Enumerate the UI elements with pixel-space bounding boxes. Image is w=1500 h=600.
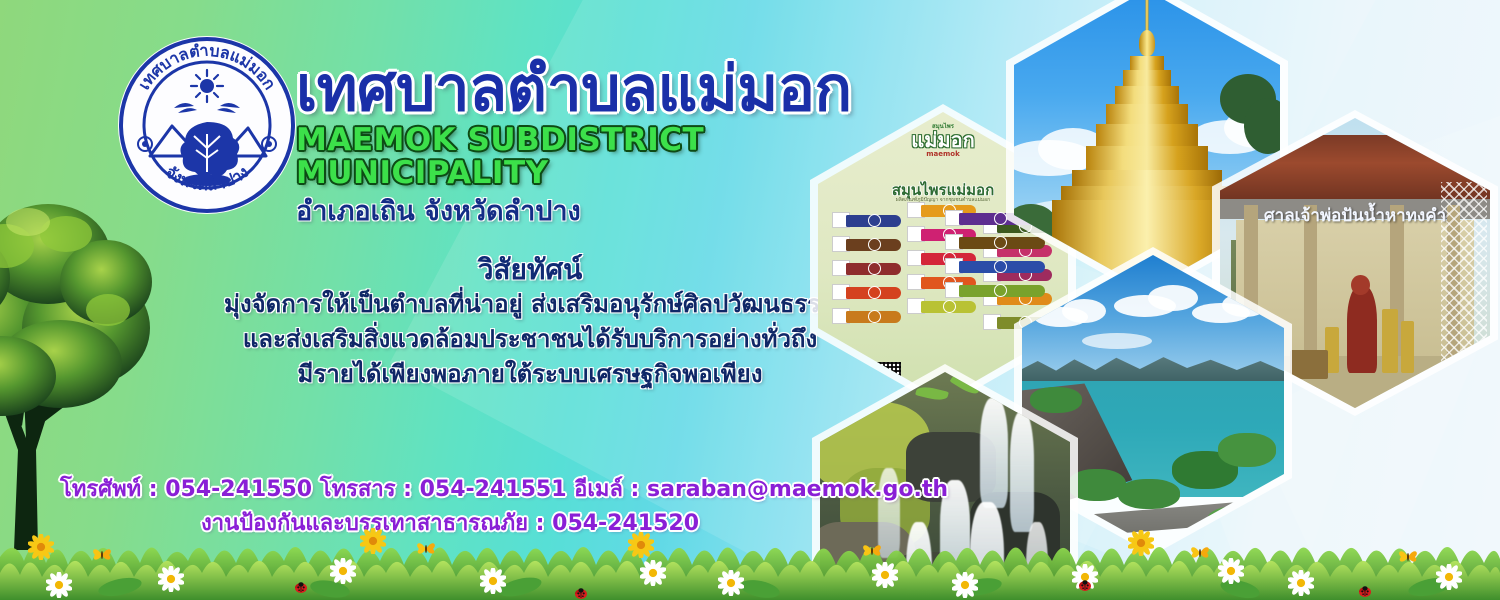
butterfly-icon (862, 543, 882, 558)
daisy-flower-icon (480, 568, 506, 594)
daisy-flower-icon (1218, 558, 1244, 584)
ladybug-icon (1358, 582, 1371, 592)
butterfly-icon (416, 541, 436, 556)
yellow-flower-icon (28, 534, 54, 560)
ladybug-icon (294, 578, 307, 588)
pagoda-caption-line1: วัดพ (1252, 0, 1274, 11)
vision-heading: วิสัยทัศน์ (180, 252, 880, 287)
pagoda-caption-line3: อำเภ (1252, 25, 1274, 38)
pagoda-caption-line2: บ้านกุ่ (1252, 11, 1274, 25)
ladybug-icon (1078, 576, 1091, 586)
daisy-flower-icon (640, 560, 666, 586)
vision-line-1: มุ่งจัดการให้เป็นตำบลที่น่าอยู่ ส่งเสริม… (180, 287, 880, 322)
municipality-banner: เทศบาลตำบลแม่มอก จังหวัดลำปาง เทศบาลตำบล… (0, 0, 1500, 600)
poster-logo-main: แม่มอก (911, 131, 974, 150)
butterfly-icon (1398, 549, 1418, 564)
vision-block: วิสัยทัศน์ มุ่งจัดการให้เป็นตำบลที่น่าอย… (180, 252, 880, 391)
daisy-flower-icon (158, 566, 184, 592)
vision-line-2: และส่งเสริมสิ่งแวดล้อมประชาชนได้รับบริกา… (180, 322, 880, 357)
photo-collage: สมุนไพร แม่มอก maemok สมุนไพรแม่มอก ผลิต… (800, 0, 1500, 600)
daisy-flower-icon (330, 558, 356, 584)
poster-logo: สมุนไพร แม่มอก maemok (911, 121, 974, 158)
daisy-flower-icon (952, 572, 978, 598)
daisy-flower-icon (1288, 570, 1314, 596)
yellow-flower-icon (628, 532, 654, 558)
daisy-flower-icon (1436, 564, 1462, 590)
daisy-flower-icon (872, 562, 898, 588)
yellow-flower-icon (360, 528, 386, 554)
shrine-caption: ศาลเจ้าพ่อปันน้ำหาทงคำ (1220, 202, 1490, 229)
ladybug-icon (574, 584, 587, 594)
pagoda-caption: วัดพ บ้านกุ่ อำเภ (1252, 0, 1274, 38)
daisy-flower-icon (46, 572, 72, 598)
vision-line-3: มีรายได้เพียงพอภายใต้ระบบเศรษฐกิจพอเพียง (180, 357, 880, 392)
yellow-flower-icon (1128, 530, 1154, 556)
butterfly-icon (92, 547, 112, 562)
contact-phone-fax-email: โทรศัพท์ : 054-241550 โทรสาร : 054-24155… (60, 473, 840, 507)
daisy-flower-icon (718, 570, 744, 596)
butterfly-icon (1190, 545, 1210, 560)
grass-border-decoration (0, 515, 1500, 600)
